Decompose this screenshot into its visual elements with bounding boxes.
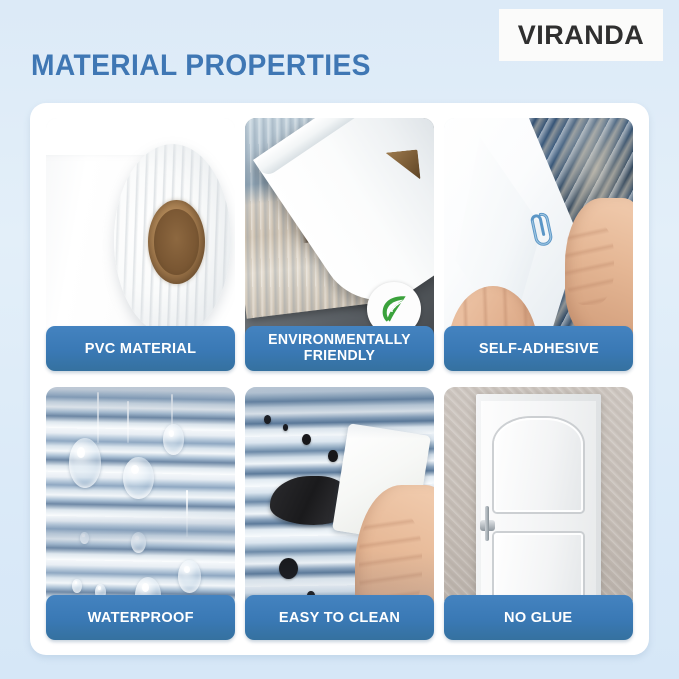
door-illustration — [444, 387, 633, 621]
feature-banner-no-glue: NO GLUE — [444, 595, 633, 640]
water-droplet — [72, 579, 81, 593]
easy-to-clean-illustration — [245, 387, 434, 621]
eco-wallpaper-illustration — [245, 118, 434, 352]
page-title: MATERIAL PROPERTIES — [31, 49, 371, 83]
feature-cell-waterproof: WATERPROOF — [46, 387, 235, 640]
feature-label: WATERPROOF — [82, 610, 200, 626]
stain-spot — [328, 450, 337, 462]
feature-grid: PVC MATERIAL — [46, 118, 633, 640]
feature-cell-environmentally-friendly: ENVIRONMENTALLY FRIENDLY — [245, 118, 434, 371]
door-leaf — [481, 401, 596, 614]
feature-cell-easy-to-clean: EASY TO CLEAN — [245, 387, 434, 640]
door-handle — [480, 520, 495, 531]
feature-image-environmentally-friendly — [245, 118, 434, 352]
water-streak — [97, 392, 99, 443]
door-panel-top — [494, 418, 584, 512]
feature-label: SELF-ADHESIVE — [473, 341, 605, 357]
water-droplet — [80, 532, 89, 544]
stain-spot — [264, 415, 272, 424]
waterproof-illustration — [46, 387, 235, 621]
feature-image-self-adhesive — [444, 118, 633, 352]
feature-banner-self-adhesive: SELF-ADHESIVE — [444, 326, 633, 371]
door-frame — [476, 394, 601, 614]
water-streak — [186, 490, 188, 537]
brand-logo: VIRANDA — [499, 9, 663, 61]
feature-image-waterproof — [46, 387, 235, 621]
self-adhesive-illustration — [444, 118, 633, 352]
feature-label: ENVIRONMENTALLY FRIENDLY — [248, 333, 431, 363]
feature-cell-no-glue: NO GLUE — [444, 387, 633, 640]
feature-cell-self-adhesive: SELF-ADHESIVE — [444, 118, 633, 371]
feature-banner-waterproof: WATERPROOF — [46, 595, 235, 640]
feature-banner-easy-to-clean: EASY TO CLEAN — [245, 595, 434, 640]
hand-right — [565, 198, 633, 343]
water-droplet — [178, 560, 201, 593]
feature-label: NO GLUE — [499, 610, 579, 626]
feature-label: PVC MATERIAL — [79, 341, 202, 357]
feature-card: PVC MATERIAL — [30, 103, 649, 655]
water-streak — [171, 394, 173, 429]
feature-banner-environmentally-friendly: ENVIRONMENTALLY FRIENDLY — [245, 326, 434, 371]
feature-banner-pvc-material: PVC MATERIAL — [46, 326, 235, 371]
paperclip-icon — [508, 200, 563, 255]
feature-label: EASY TO CLEAN — [273, 610, 406, 626]
water-droplet — [123, 457, 153, 499]
cleaning-cloth — [332, 423, 431, 542]
stain-spot — [302, 434, 311, 446]
stain-spot — [279, 558, 298, 579]
feature-image-no-glue — [444, 387, 633, 621]
roll-core-inner — [154, 209, 199, 275]
feature-image-easy-to-clean — [245, 387, 434, 621]
feature-image-pvc-material — [46, 118, 235, 352]
brand-name: VIRANDA — [518, 20, 645, 51]
leaf-icon — [376, 291, 412, 327]
feature-cell-pvc-material: PVC MATERIAL — [46, 118, 235, 371]
black-stain-smear — [270, 476, 353, 525]
water-droplet — [163, 424, 184, 454]
water-streak — [127, 401, 129, 443]
water-droplet — [131, 532, 146, 553]
water-droplet — [69, 438, 101, 487]
stain-spot — [283, 424, 289, 431]
pvc-roll-illustration — [46, 118, 235, 352]
